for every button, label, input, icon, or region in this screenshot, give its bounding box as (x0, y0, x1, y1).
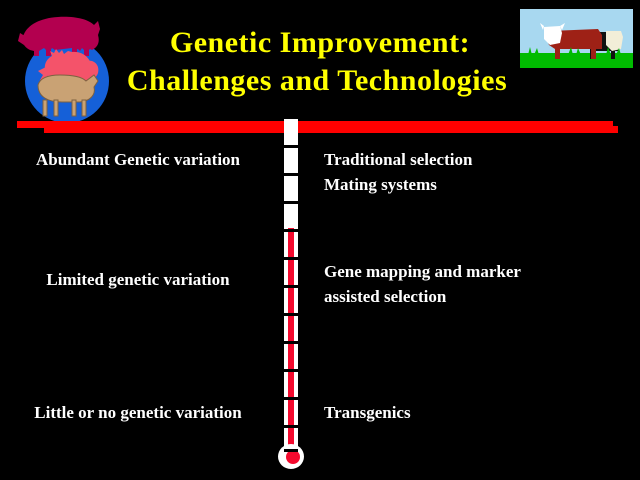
stage-0-left-line-0: Abundant Genetic variation (2, 147, 274, 172)
page-title: Genetic Improvement: Challenges and Tech… (110, 24, 530, 100)
thermometer-tick (284, 425, 298, 428)
stage-0-right-label: Traditional selection Mating systems (324, 147, 634, 197)
thermometer-tick (284, 341, 298, 344)
stage-0-left-label: Abundant Genetic variation (2, 147, 274, 172)
title-line-2: Challenges and Technologies (104, 62, 530, 100)
thermometer-tick (284, 285, 298, 288)
title-line-1: Genetic Improvement: (110, 24, 530, 62)
stage-1-left-line-0: Limited genetic variation (2, 267, 274, 292)
stage-2-left-label: Little or no genetic variation (2, 400, 274, 425)
genetic-variation-thermometer (282, 119, 300, 475)
thermometer-tick (284, 369, 298, 372)
thermometer-tick (284, 313, 298, 316)
thermometer-tick (284, 449, 298, 452)
thermometer-tick (284, 173, 298, 176)
stage-1-left-label: Limited genetic variation (2, 267, 274, 292)
thermometer-tick (284, 145, 298, 148)
stage-2-left-line-0: Little or no genetic variation (2, 400, 274, 425)
stage-2-right-label: Transgenics (324, 400, 634, 425)
cattle-photo (519, 8, 634, 69)
stage-1-right-line-0: Gene mapping and marker (324, 259, 634, 284)
slide-canvas: Genetic Improvement: Challenges and Tech… (0, 0, 640, 480)
stage-1-right-line-1: assisted selection (324, 284, 634, 309)
thermometer-tick (284, 257, 298, 260)
thermometer-tick (284, 229, 298, 232)
stage-0-right-line-1: Mating systems (324, 172, 634, 197)
thermometer-tick (284, 397, 298, 400)
red-rule-bottom (44, 126, 618, 133)
thermometer-tick (284, 201, 298, 204)
photo-grass (520, 53, 633, 68)
stage-2-right-line-0: Transgenics (324, 400, 634, 425)
livestock-logo (10, 5, 118, 123)
stage-1-right-label: Gene mapping and marker assisted selecti… (324, 259, 634, 309)
thermometer-bulb-core (286, 450, 300, 464)
stage-0-right-line-0: Traditional selection (324, 147, 634, 172)
